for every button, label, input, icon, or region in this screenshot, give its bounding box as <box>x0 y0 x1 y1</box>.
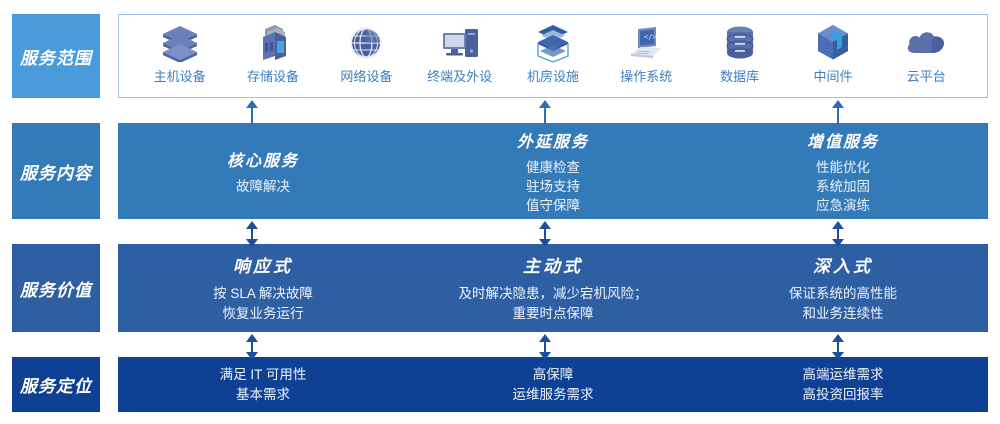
cell-line: 满足 IT 可用性 <box>220 365 307 385</box>
scope-item-label: 云平台 <box>907 66 946 85</box>
row-label-service-value: 服务价值 <box>12 244 100 332</box>
content-cell-value-added-service[interactable]: 增值服务 性能优化 系统加固 应急演练 <box>698 128 988 215</box>
row-label-service-content: 服务内容 <box>12 123 100 219</box>
cell-line: 应急演练 <box>816 196 870 215</box>
cell-line: 和业务连续性 <box>803 304 884 324</box>
service-value-panel: 响应式 按 SLA 解决故障 恢复业务运行 主动式 及时解决隐患，减少宕机风险；… <box>118 244 988 332</box>
cell-line: 重要时点保障 <box>513 304 594 324</box>
content-cell-extended-service[interactable]: 外延服务 健康检查 驻场支持 值守保障 <box>408 128 698 215</box>
cell-title: 深入式 <box>813 252 873 277</box>
server-stack-icon <box>160 23 200 63</box>
service-positioning-panel: 满足 IT 可用性 基本需求 高保障 运维服务需求 高端运维需求 高投资回报率 <box>118 357 988 412</box>
cell-line: 高保障 <box>533 365 574 385</box>
scope-item-label: 操作系统 <box>620 66 672 85</box>
scope-item-storage-equipment[interactable]: 存储设备 <box>226 15 319 97</box>
value-cell-indepth[interactable]: 深入式 保证系统的高性能 和业务连续性 <box>698 252 988 324</box>
row-label-text: 服务价值 <box>20 276 92 301</box>
service-content-panel: 核心服务 故障解决 外延服务 健康检查 驻场支持 值守保障 增值服务 性能优化 … <box>118 123 988 219</box>
scope-item-label: 存储设备 <box>247 66 299 85</box>
scope-item-middleware[interactable]: 中间件 <box>786 15 879 97</box>
cloud-platform-icon <box>904 23 948 63</box>
arrow-content-to-value-left-icon <box>245 221 259 247</box>
scope-item-label: 网络设备 <box>340 66 392 85</box>
cell-line: 性能优化 <box>816 158 870 177</box>
desktop-terminal-icon <box>439 23 481 63</box>
row-label-service-scope: 服务范围 <box>12 14 100 98</box>
svg-text:</>: </> <box>644 33 657 41</box>
cell-line: 及时解决隐患，减少宕机风险； <box>459 284 648 304</box>
positioning-cell-high-end[interactable]: 高端运维需求 高投资回报率 <box>698 365 988 405</box>
service-scope-panel: 主机设备 存储设备 <box>118 14 988 98</box>
arrow-scope-to-content-right-icon <box>831 100 845 124</box>
row-label-text: 服务定位 <box>20 372 92 397</box>
scope-item-label: 中间件 <box>813 66 852 85</box>
value-cell-responsive[interactable]: 响应式 按 SLA 解决故障 恢复业务运行 <box>118 252 408 324</box>
cube-middleware-icon <box>814 23 852 63</box>
storage-array-icon <box>253 23 293 63</box>
scope-item-label: 主机设备 <box>154 66 206 85</box>
cell-title: 外延服务 <box>517 128 589 152</box>
arrow-value-to-positioning-mid-icon <box>538 334 552 360</box>
scope-item-terminal-peripherals[interactable]: 终端及外设 <box>413 15 506 97</box>
row-label-text: 服务范围 <box>20 44 92 69</box>
cell-line: 驻场支持 <box>526 177 580 196</box>
arrow-content-to-value-mid-icon <box>538 221 552 247</box>
arrow-scope-to-content-left-icon <box>245 100 259 124</box>
cell-line: 系统加固 <box>816 177 870 196</box>
cell-line: 高端运维需求 <box>803 365 884 385</box>
cell-line: 故障解决 <box>236 177 290 196</box>
scope-item-operating-system[interactable]: </> 操作系统 <box>600 15 693 97</box>
datacenter-facility-icon <box>532 23 574 63</box>
scope-item-datacenter-facility[interactable]: 机房设施 <box>506 15 599 97</box>
content-cell-core-service[interactable]: 核心服务 故障解决 <box>118 147 408 196</box>
scope-item-cloud-platform[interactable]: 云平台 <box>880 15 973 97</box>
row-label-text: 服务内容 <box>20 159 92 184</box>
cell-line: 恢复业务运行 <box>223 304 304 324</box>
scope-item-label: 数据库 <box>720 66 759 85</box>
row-label-service-positioning: 服务定位 <box>12 357 100 412</box>
scope-item-network-equipment[interactable]: 网络设备 <box>320 15 413 97</box>
value-cell-proactive[interactable]: 主动式 及时解决隐患，减少宕机风险； 重要时点保障 <box>408 252 698 324</box>
arrow-value-to-positioning-right-icon <box>831 334 845 360</box>
cell-line: 基本需求 <box>236 385 290 405</box>
database-cylinder-icon <box>722 23 758 63</box>
globe-network-icon <box>347 23 385 63</box>
scope-item-database[interactable]: 数据库 <box>693 15 786 97</box>
positioning-cell-basic[interactable]: 满足 IT 可用性 基本需求 <box>118 365 408 405</box>
cell-title: 增值服务 <box>807 128 879 152</box>
positioning-cell-high-assurance[interactable]: 高保障 运维服务需求 <box>408 365 698 405</box>
cell-title: 响应式 <box>233 252 293 277</box>
arrow-scope-to-content-mid-icon <box>538 100 552 124</box>
cell-line: 按 SLA 解决故障 <box>213 284 313 304</box>
cell-line: 运维服务需求 <box>513 385 594 405</box>
service-framework-diagram: 服务范围 主机设备 <box>0 0 1000 424</box>
arrow-content-to-value-right-icon <box>831 221 845 247</box>
cell-line: 健康检查 <box>526 158 580 177</box>
scope-item-host-equipment[interactable]: 主机设备 <box>133 15 226 97</box>
arrow-value-to-positioning-left-icon <box>245 334 259 360</box>
cell-line: 保证系统的高性能 <box>789 284 897 304</box>
cell-title: 主动式 <box>523 252 583 277</box>
cell-title: 核心服务 <box>227 147 299 171</box>
scope-item-label: 机房设施 <box>527 66 579 85</box>
cell-line: 高投资回报率 <box>803 385 884 405</box>
cell-line: 值守保障 <box>526 196 580 215</box>
scope-item-label: 终端及外设 <box>427 66 492 85</box>
laptop-os-icon: </> <box>625 23 667 63</box>
